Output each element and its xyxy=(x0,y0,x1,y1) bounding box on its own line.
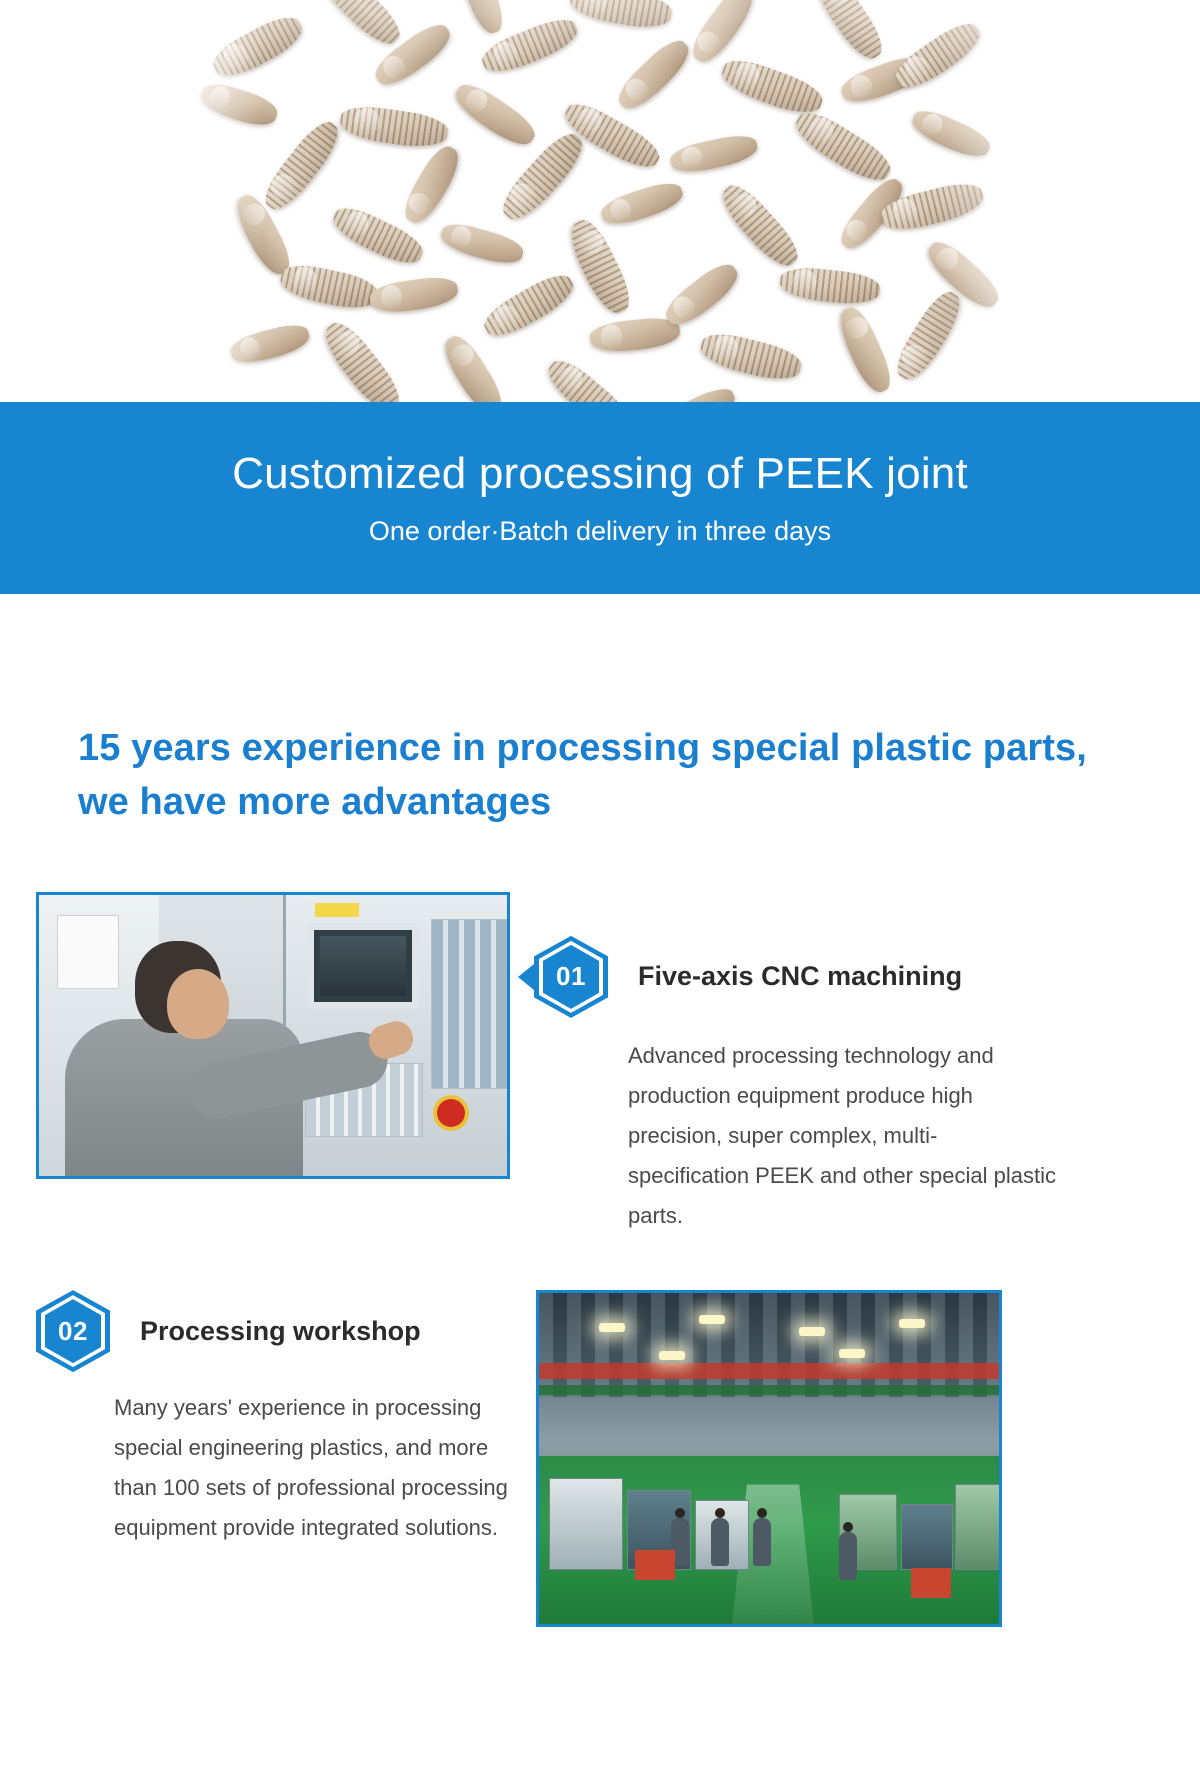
hero-banner: Customized processing of PEEK joint One … xyxy=(0,402,1200,594)
product-detail-page: Customized processing of PEEK joint One … xyxy=(0,0,1200,1772)
step-number-02: 02 xyxy=(58,1316,88,1347)
feature-01-header: 01 Five-axis CNC machining xyxy=(534,936,1200,1018)
hero-section: Customized processing of PEEK joint One … xyxy=(0,0,1200,660)
feature-02-header: 02 Processing workshop xyxy=(36,1290,536,1372)
feature-block-01: 01 Five-axis CNC machining Advanced proc… xyxy=(0,892,1200,1236)
feature-02-title: Processing workshop xyxy=(140,1316,421,1347)
step-number-badge-02: 02 xyxy=(36,1290,110,1372)
feature-01-title: Five-axis CNC machining xyxy=(638,961,962,992)
feature-01-body: Advanced processing technology and produ… xyxy=(628,1036,1058,1236)
hero-subtitle: One order·Batch delivery in three days xyxy=(369,516,831,547)
feature-block-02: 02 Processing workshop Many years' exper… xyxy=(0,1290,1200,1627)
feature-01-text: 01 Five-axis CNC machining Advanced proc… xyxy=(510,892,1200,1236)
hero-title: Customized processing of PEEK joint xyxy=(232,449,968,500)
step-number-badge-01: 01 xyxy=(534,936,608,1018)
feature-02-body: Many years' experience in processing spe… xyxy=(114,1388,514,1548)
feature-02-text: 02 Processing workshop Many years' exper… xyxy=(36,1290,536,1548)
cnc-machining-photo xyxy=(36,892,510,1179)
workshop-photo xyxy=(536,1290,1002,1627)
section-headline: 15 years experience in processing specia… xyxy=(78,722,1138,830)
badge-pointer-icon xyxy=(518,964,534,990)
step-number-01: 01 xyxy=(556,961,586,992)
